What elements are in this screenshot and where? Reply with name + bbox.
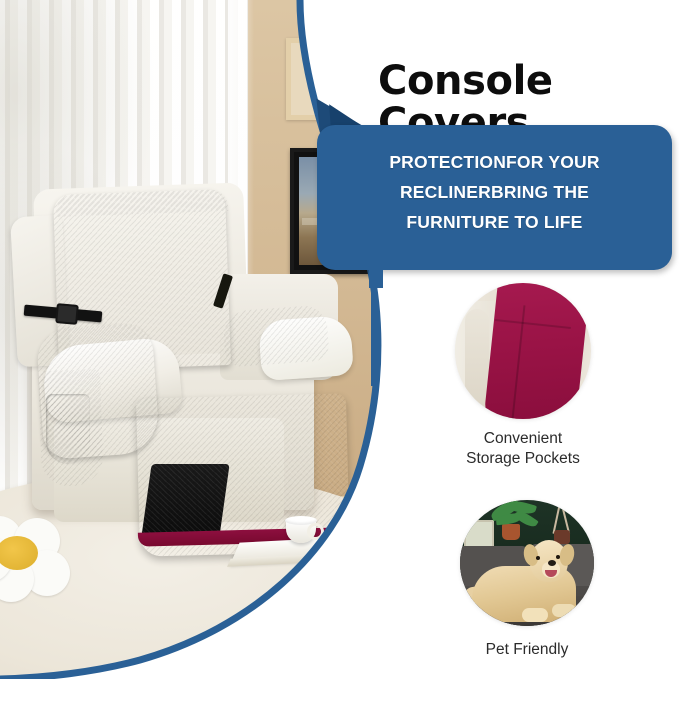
promo-line-2: RECLINERBRING THE	[337, 177, 652, 207]
promo-banner-text: PROTECTIONFOR YOUR RECLINERBRING THE FUR…	[337, 147, 652, 237]
daisy-cushion	[0, 516, 70, 602]
cover-arm-right	[222, 304, 330, 367]
feature-storage-pockets-caption: Convenient Storage Pockets	[455, 429, 591, 469]
caption-line-1: Pet Friendly	[460, 640, 594, 660]
promo-banner: PROTECTIONFOR YOUR RECLINERBRING THE FUR…	[317, 125, 672, 270]
strap-buckle	[55, 303, 79, 325]
cover-storage-pocket	[46, 394, 90, 464]
feature-storage-pockets: Convenient Storage Pockets	[455, 283, 591, 469]
books-stack	[230, 537, 342, 564]
feature-pet-friendly: Pet Friendly	[460, 500, 594, 660]
feature-pet-friendly-image	[460, 500, 594, 626]
feature-storage-pockets-image	[455, 283, 591, 419]
vertical-divider-line	[371, 266, 377, 386]
marketing-image: Console Covers PROTECTIONFOR YOUR RECLIN…	[0, 0, 679, 679]
caption-line-2: Storage Pockets	[455, 449, 591, 469]
promo-line-1: PROTECTIONFOR YOUR	[337, 147, 652, 177]
promo-line-3: FURNITURE TO LIFE	[337, 207, 652, 237]
feature-pet-friendly-caption: Pet Friendly	[460, 640, 594, 660]
recliner-chair	[10, 190, 358, 550]
caption-line-1: Convenient	[455, 429, 591, 449]
